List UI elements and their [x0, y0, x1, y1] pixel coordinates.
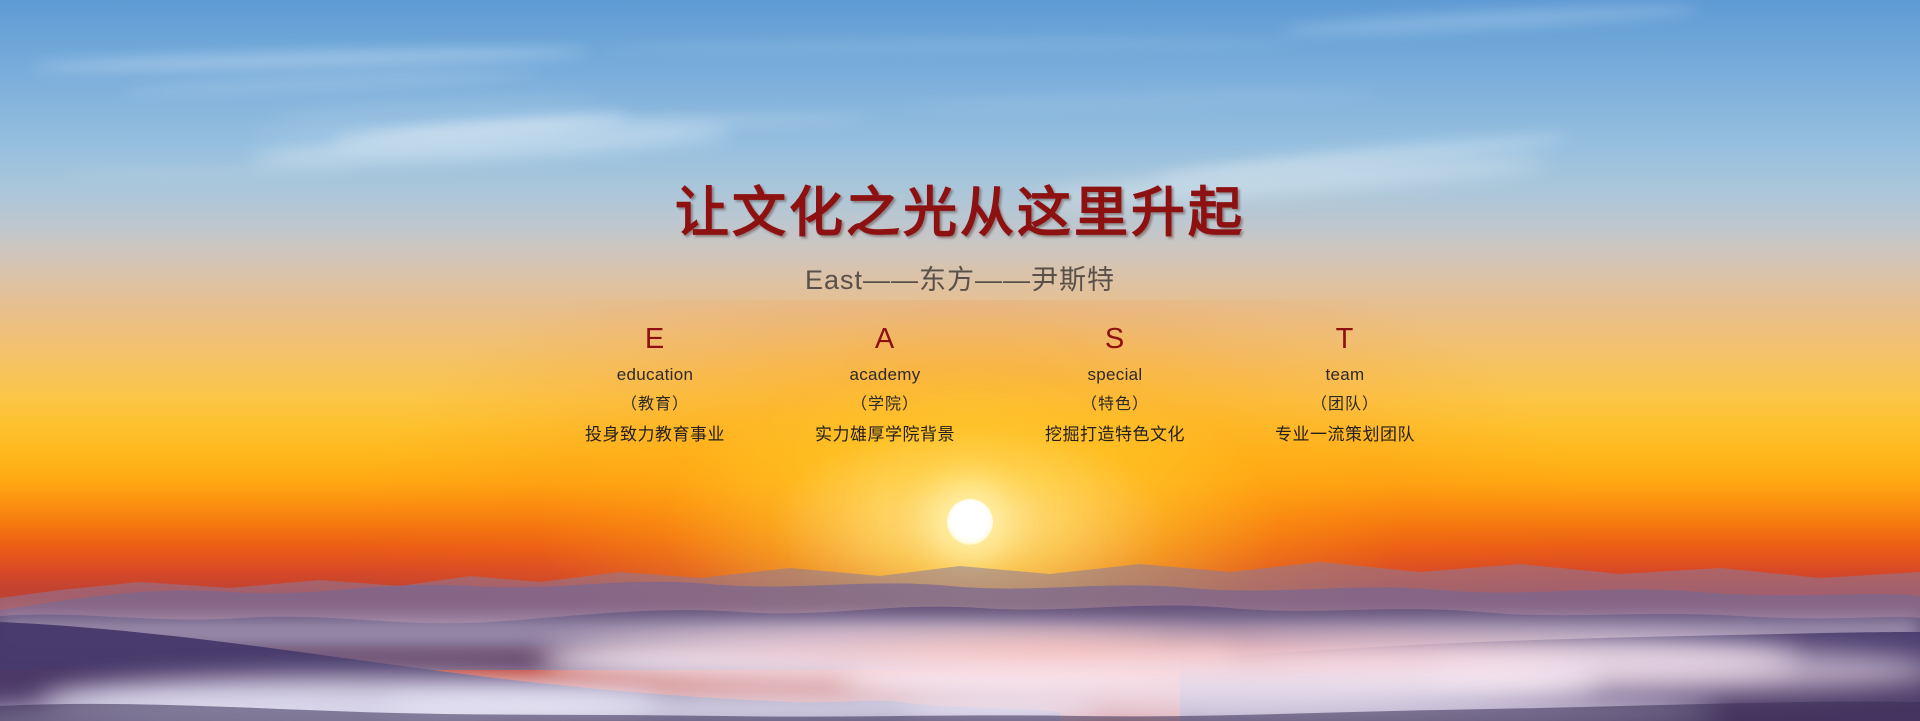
pillar-chinese: （学院）: [770, 395, 1000, 415]
pillar-english: education: [540, 364, 770, 385]
east-acronym-list: E education （教育） 投身致力教育事业 A academy （学院）…: [540, 323, 1460, 445]
pillar-english: academy: [770, 364, 1000, 385]
pillar-description: 实力雄厚学院背景: [770, 424, 1000, 445]
pillar-letter: A: [770, 323, 1000, 355]
pillar-description: 投身致力教育事业: [540, 424, 770, 445]
pillar-letter: S: [1000, 323, 1230, 355]
pillar-chinese: （特色）: [1000, 395, 1230, 415]
pillar-education: E education （教育） 投身致力教育事业: [540, 323, 770, 445]
subtitle: East——东方——尹斯特: [0, 258, 1920, 297]
text-overlay: 让文化之光从这里升起 East——东方——尹斯特 E education （教育…: [0, 0, 1920, 721]
pillar-team: T team （团队） 专业一流策划团队: [1230, 323, 1460, 445]
pillar-english: special: [1000, 364, 1230, 385]
pillar-english: team: [1230, 364, 1460, 385]
pillar-description: 专业一流策划团队: [1230, 424, 1460, 445]
pillar-chinese: （团队）: [1230, 395, 1460, 415]
page-title: 让文化之光从这里升起: [0, 168, 1920, 247]
hero-banner: 让文化之光从这里升起 East——东方——尹斯特 E education （教育…: [0, 0, 1920, 721]
pillar-letter: T: [1230, 323, 1460, 355]
pillar-academy: A academy （学院） 实力雄厚学院背景: [770, 323, 1000, 445]
pillar-chinese: （教育）: [540, 395, 770, 415]
pillar-description: 挖掘打造特色文化: [1000, 424, 1230, 445]
pillar-letter: E: [540, 323, 770, 355]
pillar-special: S special （特色） 挖掘打造特色文化: [1000, 323, 1230, 445]
